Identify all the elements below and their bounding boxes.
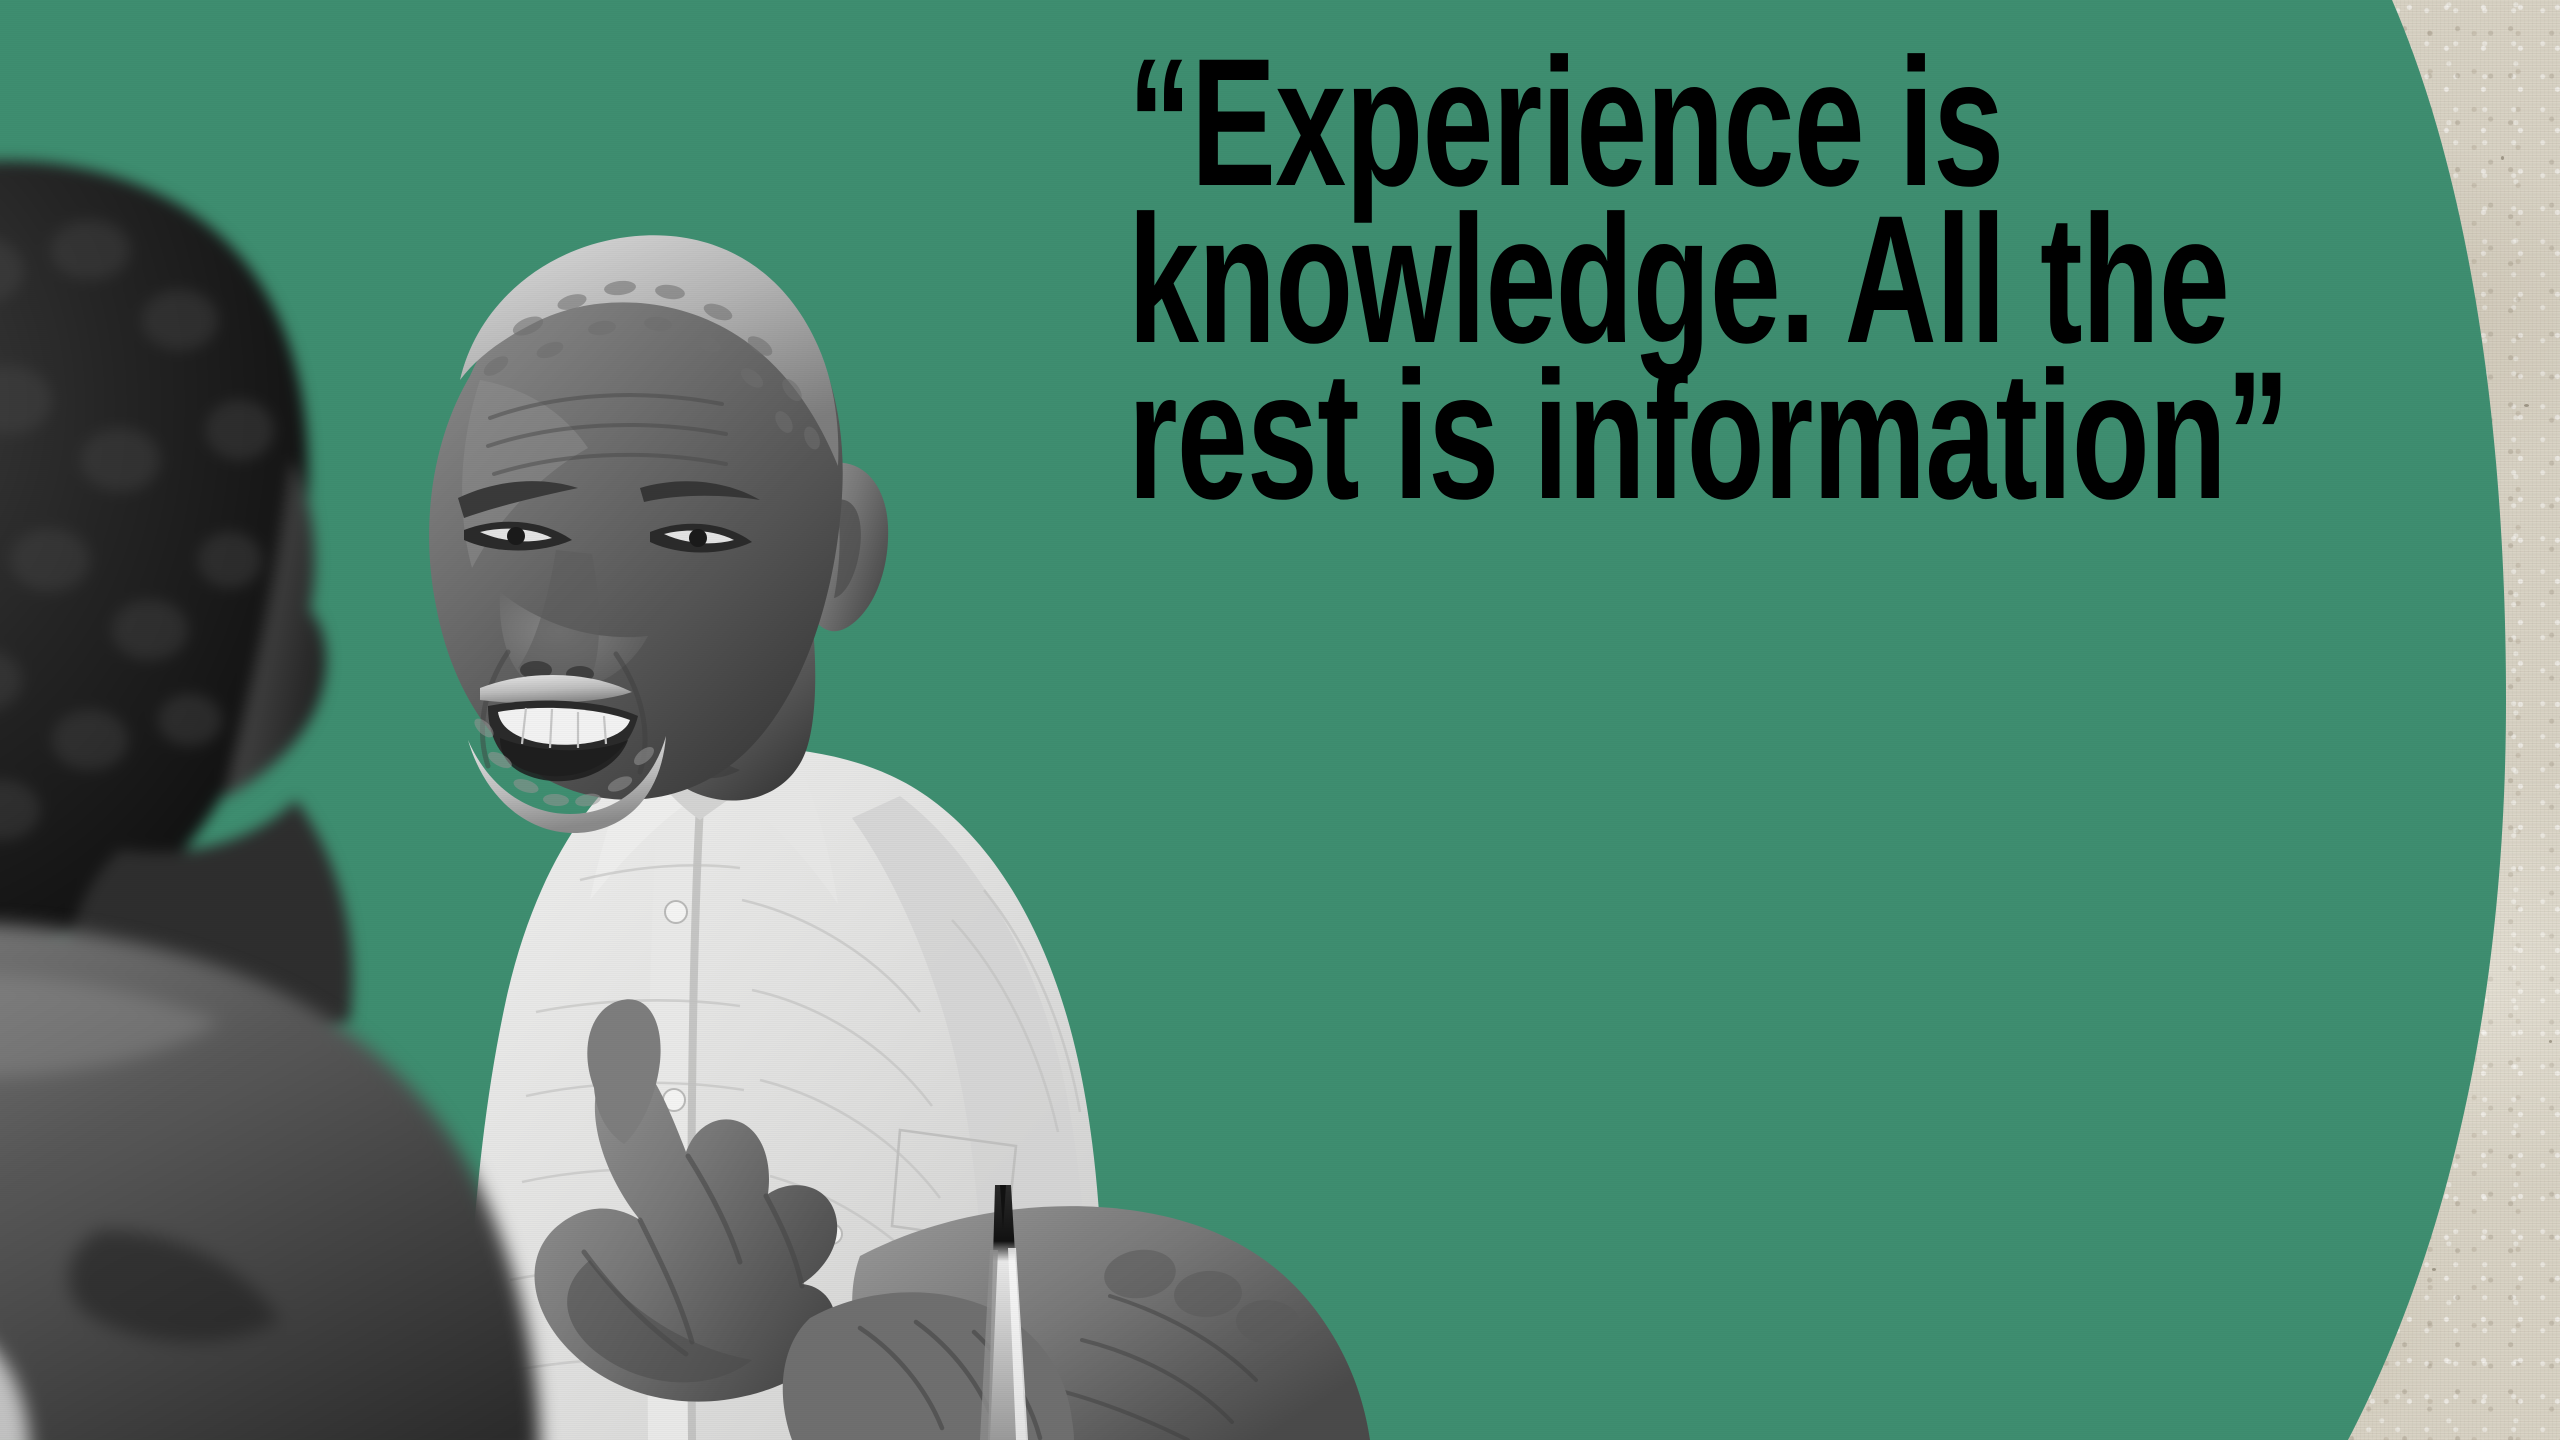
poster-canvas: “Experience is knowledge. All the rest i… xyxy=(0,0,2560,1440)
quote-text: “Experience is knowledge. All the rest i… xyxy=(1128,44,2108,514)
quote-line-3: rest is information” xyxy=(1128,357,2108,514)
